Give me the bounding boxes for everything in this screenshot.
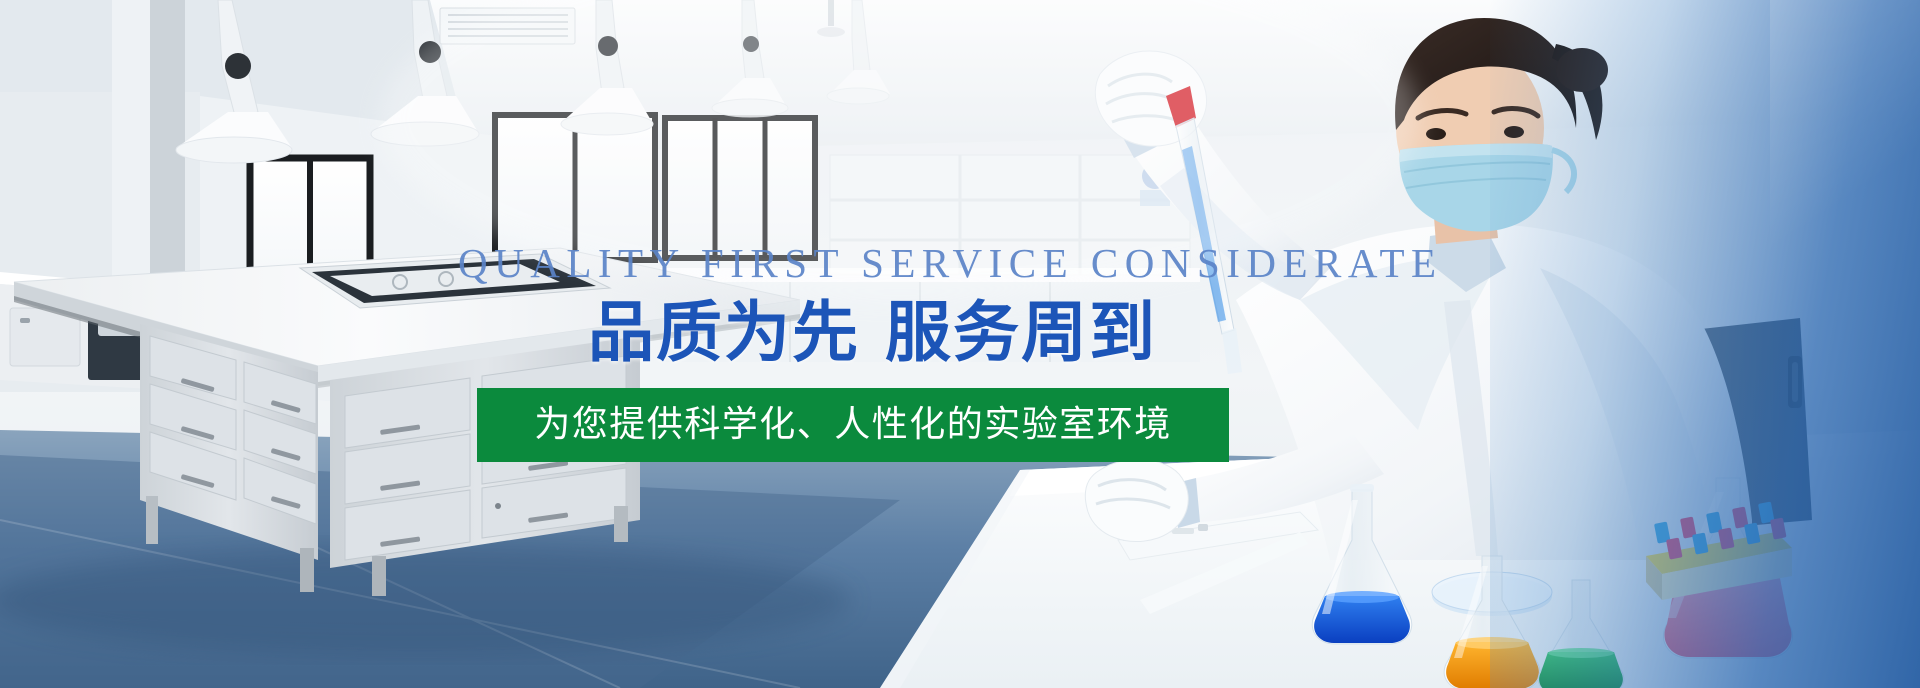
hero-banner: QUALITY FIRST SERVICE CONSIDERATE 品质为先 服… [0, 0, 1920, 688]
lab-scene-illustration [0, 0, 1920, 688]
